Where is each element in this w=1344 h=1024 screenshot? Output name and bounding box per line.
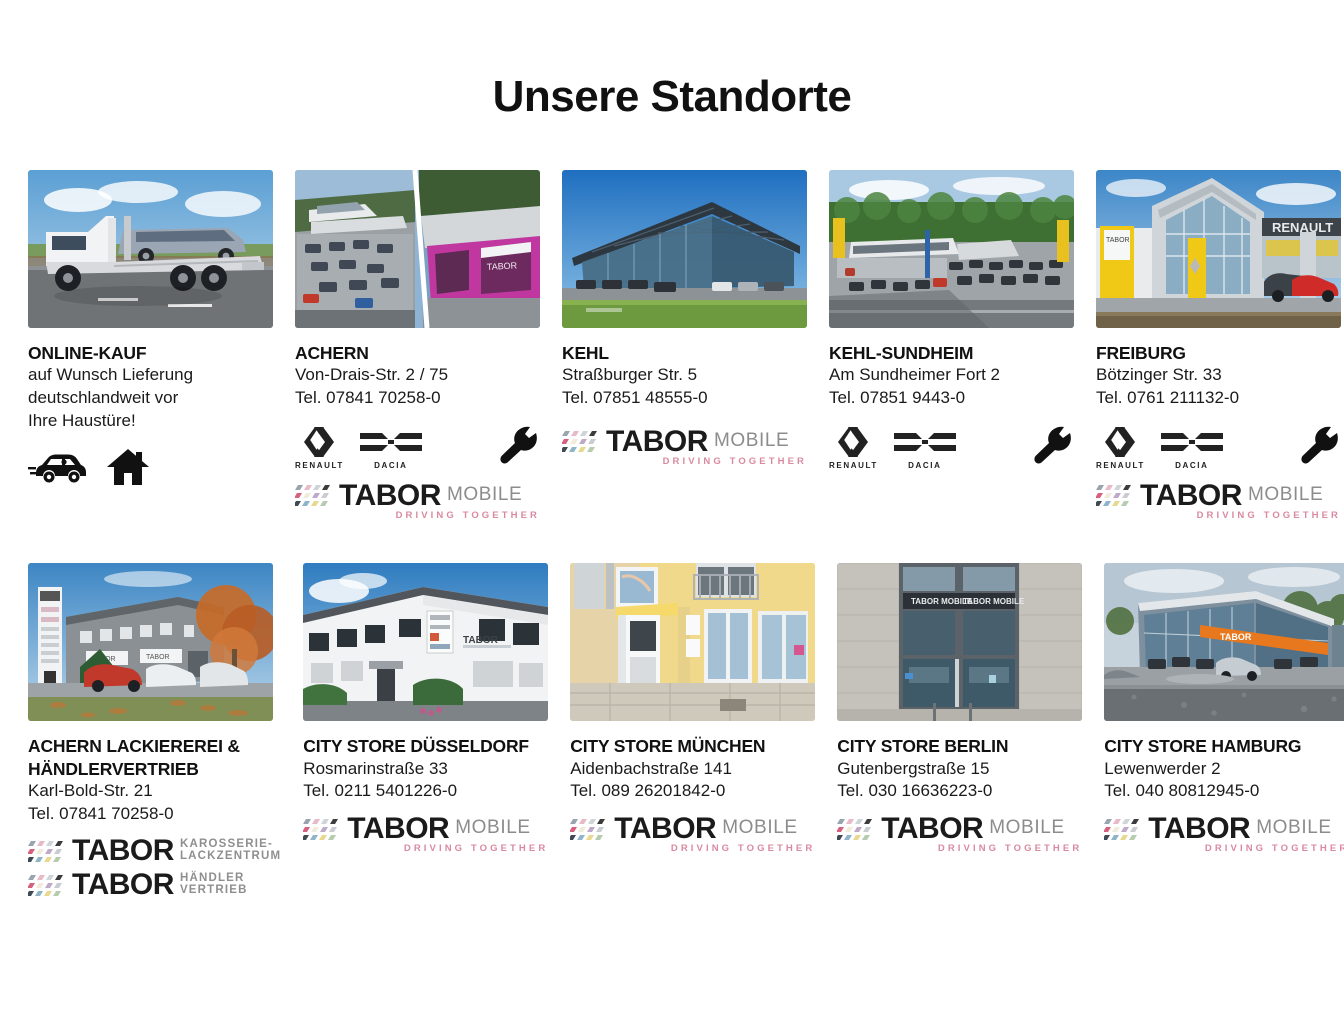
card-address: Von-Drais-Str. 2 / 75 [295,364,540,387]
dacia-icon [892,425,958,459]
card-address: Aidenbachstraße 141 [570,758,815,781]
wrench-icon [1301,425,1341,470]
card-line-3: Ihre Haustüre! [28,410,273,433]
svg-text:TABOR MOBILE: TABOR MOBILE [963,597,1025,606]
renault-badge: RENAULT [1096,425,1145,470]
location-card-kehl[interactable]: KEHL Straßburger Str. 5 Tel. 07851 48555… [562,170,807,521]
tabor-tagline: DRIVING TOGETHER [295,510,540,521]
card-title: ACHERN LACKIEREREI & HÄNDLERVERTRIEB [28,735,281,780]
tabor-wordmark: TABOR [881,815,983,843]
tabor-wordmark: TABOR [72,837,174,865]
tabor-mobile-logo: TABOR MOBILE DRIVING TOGETHER [303,815,548,855]
tabor-mobile-word: MOBILE [1248,485,1323,506]
tabor-wordmark: TABOR [1140,482,1242,510]
renault-badge: RENAULT [829,425,878,470]
brand-badges: RENAULT DACIA [829,424,1074,470]
tabor-dots-icon [1096,482,1134,508]
haendler-line-1: HÄNDLER [180,873,248,885]
tabor-mobile-logo: TABOR MOBILE DRIVING TOGETHER [1096,482,1341,522]
tabor-wordmark: TABOR [1148,815,1250,843]
dacia-label: DACIA [374,461,407,470]
card-phone: Tel. 07841 70258-0 [28,803,281,826]
svg-text:TABOR: TABOR [463,635,499,646]
location-card-city-store-muenchen[interactable]: CITY STORE MÜNCHEN Aidenbachstraße 141 T… [570,563,815,898]
svg-text:TABOR: TABOR [1106,237,1130,244]
location-card-city-store-berlin[interactable]: TABOR MOBILE TABOR MOBILE [837,563,1082,898]
dacia-badge: DACIA [1159,425,1225,470]
renault-badge: RENAULT [295,425,344,470]
renault-label: RENAULT [295,461,344,470]
tabor-tagline: DRIVING TOGETHER [570,843,815,854]
photo-achern-dealership-aerial-and-pink-building: TABOR [295,170,540,328]
card-title: CITY STORE BERLIN [837,735,1082,757]
tabor-tagline: DRIVING TOGETHER [1096,510,1341,521]
tabor-dots-icon [562,428,600,454]
tabor-dots-icon [303,816,341,842]
card-phone: Tel. 089 26201842-0 [570,780,815,803]
photo-hamburg-glass-showroom-street: TABOR [1104,563,1344,721]
tabor-wordmark: TABOR [347,815,449,843]
tabor-tagline: DRIVING TOGETHER [1104,843,1344,854]
tabor-wordmark: TABOR [72,871,174,899]
tabor-mobile-logo: TABOR MOBILE DRIVING TOGETHER [570,815,815,855]
dacia-icon [358,425,424,459]
tabor-mobile-word: MOBILE [1256,818,1331,839]
card-address: Am Sundheimer Fort 2 [829,364,1074,387]
tabor-tagline: DRIVING TOGETHER [303,843,548,854]
tabor-mobile-logo: TABOR MOBILE DRIVING TOGETHER [837,815,1082,855]
tabor-mobile-logo: TABOR MOBILE DRIVING TOGETHER [1104,815,1344,855]
tabor-mobile-word: MOBILE [455,818,530,839]
card-title: KEHL [562,342,807,364]
location-card-city-store-hamburg[interactable]: TABOR [1104,563,1344,898]
card-phone: Tel. 0211 5401226-0 [303,780,548,803]
location-card-kehl-sundheim[interactable]: KEHL-SUNDHEIM Am Sundheimer Fort 2 Tel. … [829,170,1074,521]
tabor-karosserie-logo: TABOR KAROSSERIE- LACKZENTRUM [28,837,281,865]
photo-berlin-stone-facade-glass-entrance: TABOR MOBILE TABOR MOBILE [837,563,1082,721]
card-title: ONLINE-KAUF [28,342,273,364]
card-address: Gutenbergstraße 15 [837,758,1082,781]
tabor-haendler-logo: TABOR HÄNDLER VERTRIEB [28,871,281,899]
house-icon [106,448,150,491]
card-phone: Tel. 0761 211132-0 [1096,387,1341,410]
locations-grid-row-2: TABOR TABOR [0,563,1344,898]
card-title: KEHL-SUNDHEIM [829,342,1074,364]
card-phone: Tel. 030 16636223-0 [837,780,1082,803]
card-phone: Tel. 07851 9443-0 [829,387,1074,410]
locations-grid-row-1: ONLINE-KAUF auf Wunsch Lieferung deutsch… [0,170,1344,521]
renault-icon [837,425,869,459]
card-title: ACHERN [295,342,540,364]
tabor-tagline: DRIVING TOGETHER [837,843,1082,854]
page-title: Unsere Standorte [0,0,1344,122]
tabor-mobile-logo: TABOR MOBILE DRIVING TOGETHER [295,482,540,522]
tabor-mobile-word: MOBILE [447,485,522,506]
location-card-achern-lackiererei[interactable]: TABOR TABOR [28,563,281,898]
card-title: CITY STORE HAMBURG [1104,735,1344,757]
dacia-icon [1159,425,1225,459]
svg-text:TABOR: TABOR [487,260,518,272]
tabor-mobile-word: MOBILE [722,818,797,839]
card-address: Karl-Bold-Str. 21 [28,780,281,803]
tabor-dots-icon [570,816,608,842]
brand-badges: RENAULT DACIA [1096,424,1341,470]
card-title: FREIBURG [1096,342,1341,364]
location-card-online-kauf[interactable]: ONLINE-KAUF auf Wunsch Lieferung deutsch… [28,170,273,521]
dacia-badge: DACIA [358,425,424,470]
tabor-wordmark: TABOR [614,815,716,843]
karosserie-line-2: LACKZENTRUM [180,851,281,863]
dacia-label: DACIA [908,461,941,470]
renault-icon [303,425,335,459]
renault-label: RENAULT [1096,461,1145,470]
tabor-sub-logos: TABOR KAROSSERIE- LACKZENTRUM [28,837,281,898]
card-line-1: auf Wunsch Lieferung [28,364,273,387]
tabor-dots-icon [295,482,333,508]
photo-car-transporter-with-sedan [28,170,273,328]
renault-label: RENAULT [829,461,878,470]
renault-icon [1104,425,1136,459]
card-line-2: deutschlandweit vor [28,387,273,410]
location-card-freiburg[interactable]: RENAULT TABOR FREIBURG [1096,170,1341,521]
photo-kehl-sundheim-aerial-dealership [829,170,1074,328]
location-card-achern[interactable]: TABOR ACHERN Von-Drais-Str. 2 / 75 Tel. … [295,170,540,521]
brand-badges: RENAULT DACIA [295,424,540,470]
card-title: CITY STORE DÜSSELDORF [303,735,548,757]
photo-duesseldorf-white-office-building: TABOR [303,563,548,721]
tabor-mobile-word: MOBILE [989,818,1064,839]
tabor-wordmark: TABOR [339,482,441,510]
photo-achern-lackiererei-building-autumn: TABOR TABOR [28,563,273,721]
haendler-line-2: VERTRIEB [180,885,248,897]
card-phone: Tel. 040 80812945-0 [1104,780,1344,803]
tabor-dots-icon [28,838,66,864]
tabor-wordmark: TABOR [606,428,708,456]
tabor-mobile-logo: TABOR MOBILE DRIVING TOGETHER [562,428,807,468]
wrench-icon [1034,425,1074,470]
tabor-mobile-word: MOBILE [714,431,789,452]
card-address: Rosmarinstraße 33 [303,758,548,781]
tabor-dots-icon [28,872,66,898]
locations-page: Unsere Standorte [0,0,1344,1024]
card-address: Bötzinger Str. 33 [1096,364,1341,387]
tabor-dots-icon [837,816,875,842]
wrench-icon [500,425,540,470]
card-address: Straßburger Str. 5 [562,364,807,387]
location-card-city-store-duesseldorf[interactable]: TABOR CITY STORE DÜSSELDORF [303,563,548,898]
delivery-icons [28,448,273,491]
tabor-tagline: DRIVING TOGETHER [562,456,807,467]
svg-text:TABOR: TABOR [1220,632,1252,642]
dacia-badge: DACIA [892,425,958,470]
tabor-dots-icon [1104,816,1142,842]
photo-freiburg-renault-dealership: RENAULT TABOR [1096,170,1341,328]
card-phone: Tel. 07851 48555-0 [562,387,807,410]
dacia-label: DACIA [1175,461,1208,470]
car-icon [28,449,88,490]
photo-muenchen-yellow-building-entrance [570,563,815,721]
card-phone: Tel. 07841 70258-0 [295,387,540,410]
photo-kehl-glass-showroom [562,170,807,328]
card-address: Lewenwerder 2 [1104,758,1344,781]
svg-text:TABOR: TABOR [146,654,170,661]
card-title: CITY STORE MÜNCHEN [570,735,815,757]
